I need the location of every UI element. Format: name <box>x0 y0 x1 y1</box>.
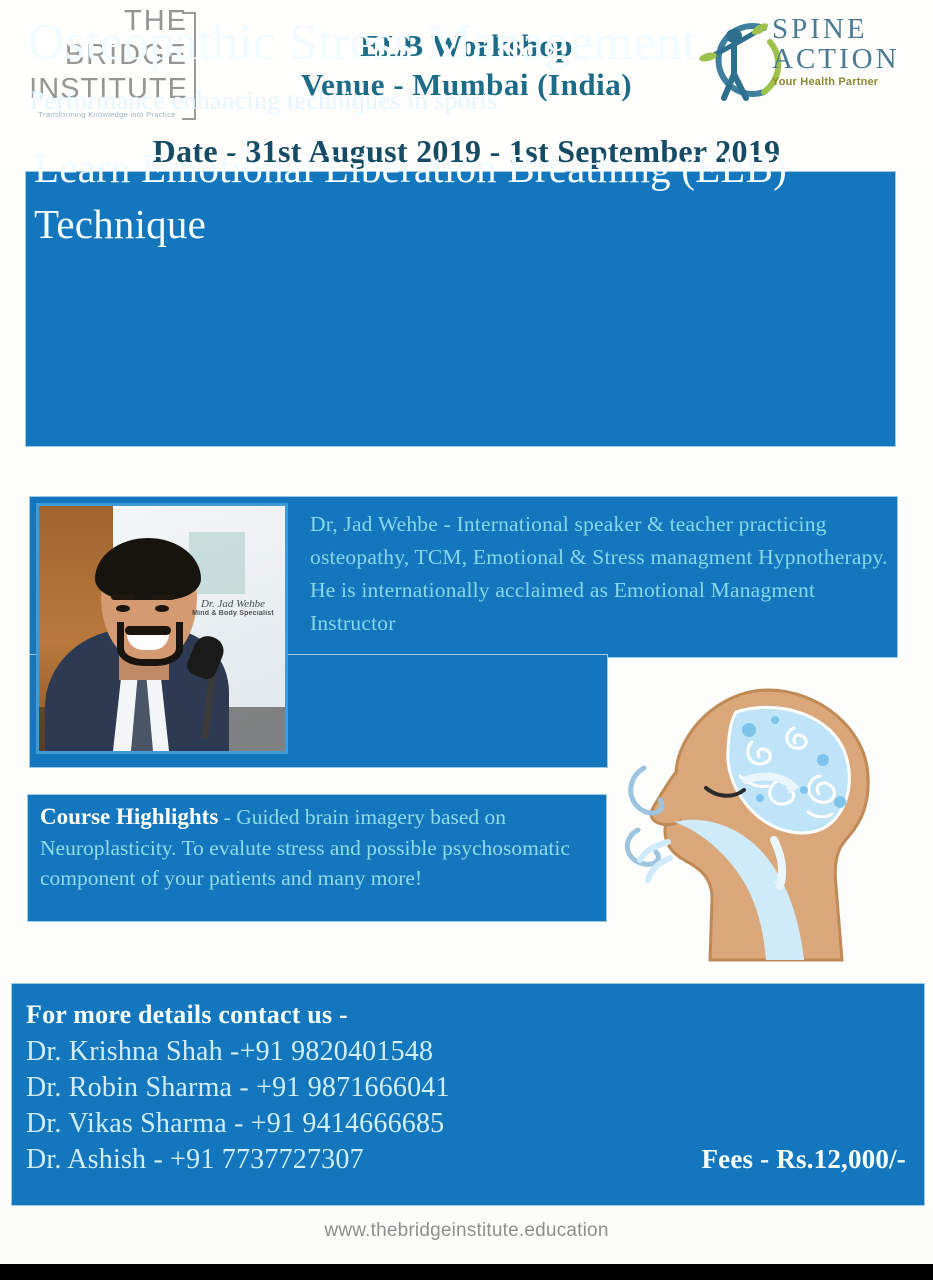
learn-technique-line: Learn Emotional Liberation Breathing (EL… <box>34 140 864 252</box>
fees-amount: Fees - Rs.12,000/- <box>701 1144 910 1175</box>
contact-row[interactable]: Dr. Robin Sharma - +91 9871666041 <box>26 1070 910 1106</box>
poster-canvas: THE BRIDGE INSTITUTE Transforming Knowle… <box>0 0 933 1280</box>
photo-watermark-name: Dr. Jad Wehbe <box>179 598 287 610</box>
photo-eye-right <box>155 605 169 612</box>
breathing-head-brain-illustration <box>618 672 918 972</box>
contact-details: For more details contact us - Dr. Krishn… <box>26 996 910 1178</box>
speaker-bio-text: Dr, Jad Wehbe - International speaker & … <box>310 508 890 640</box>
contact-last-row-with-fees: Dr. Ashish - +91 7737727307 Fees - Rs.12… <box>26 1142 910 1178</box>
main-subtitle: Performance enhancing techniques in spor… <box>30 86 498 116</box>
speaker-photo: Dr. Jad Wehbe Mind & Body Specialist <box>36 503 288 754</box>
contact-row[interactable]: Dr. Vikas Sharma - +91 9414666685 <box>26 1106 910 1142</box>
photo-eyebrow-left <box>111 594 135 600</box>
course-highlights-label: Course Highlights <box>40 804 218 829</box>
photo-watermark-role: Mind & Body Specialist <box>179 610 287 617</box>
bottom-black-bar <box>0 1264 933 1280</box>
main-title: Osteopathic Stress Management <box>28 14 697 72</box>
course-highlights-text: Course Highlights - Guided brain imagery… <box>40 802 610 894</box>
contact-heading: For more details contact us - <box>26 996 910 1034</box>
contact-row[interactable]: Dr. Krishna Shah -+91 9820401548 <box>26 1034 910 1070</box>
photo-mustache <box>125 626 171 635</box>
website-url[interactable]: www.thebridgeinstitute.education <box>0 1220 933 1242</box>
photo-eye-left <box>116 605 130 612</box>
photo-eyebrow-right <box>151 594 175 600</box>
contact-row[interactable]: Dr. Ashish - +91 7737727307 <box>26 1142 364 1178</box>
poster-footer: www.thebridgeinstitute.education <box>0 1212 933 1264</box>
photo-watermark: Dr. Jad Wehbe Mind & Body Specialist <box>179 598 287 617</box>
